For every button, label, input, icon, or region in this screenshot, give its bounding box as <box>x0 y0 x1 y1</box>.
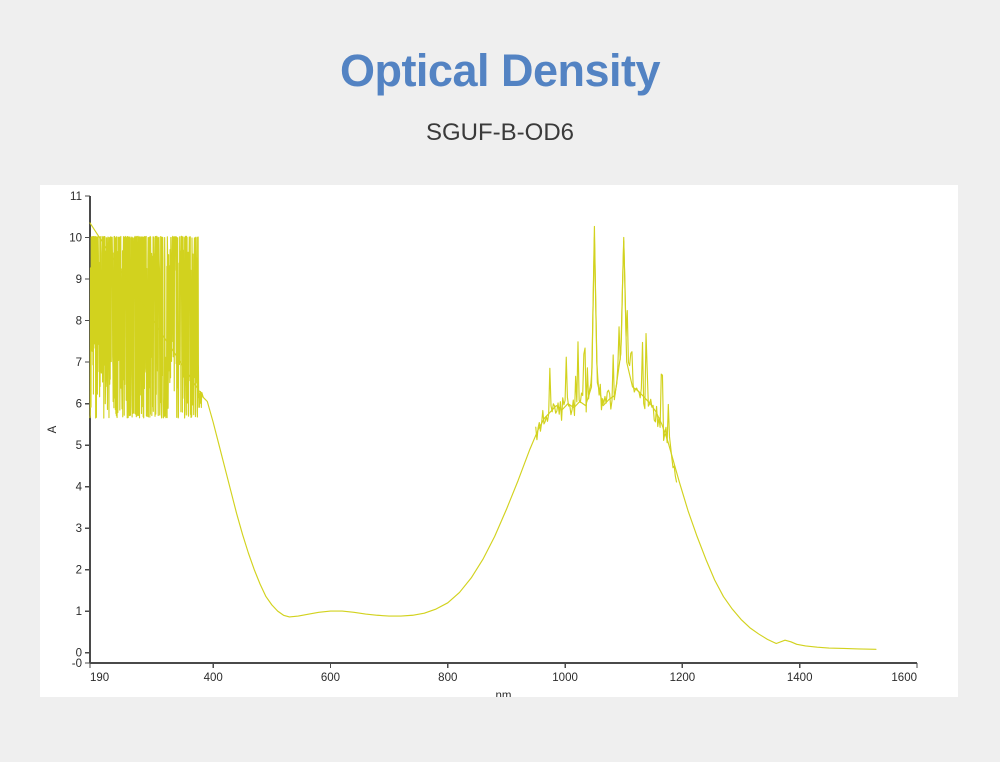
x-tick-label: 1000 <box>552 672 578 684</box>
x-tick-label: 190 <box>90 672 109 684</box>
y-axis-ticks: -001234567891011 <box>69 191 90 670</box>
x-tick-label: 1600 <box>891 672 917 684</box>
series-optical-density <box>90 223 876 649</box>
x-tick-label: 400 <box>204 672 223 684</box>
y-tick-label: 8 <box>76 316 82 328</box>
x-tick-label: 1400 <box>787 672 813 684</box>
y-tick-label: 3 <box>76 523 82 535</box>
x-axis-title: nm <box>496 690 512 697</box>
x-tick-label: 1200 <box>670 672 696 684</box>
y-tick-label: 4 <box>76 482 83 494</box>
y-tick-label: 2 <box>76 565 82 577</box>
page-title: Optical Density <box>0 46 1000 96</box>
series-uv-noise <box>90 236 203 418</box>
series-ir-fine-structure <box>536 227 677 482</box>
y-tick-label: 6 <box>76 399 82 411</box>
page-subtitle: SGUF-B-OD6 <box>0 119 1000 147</box>
y-tick-label: 0 <box>76 648 82 660</box>
y-tick-label: -0 <box>72 658 82 670</box>
x-tick-label: 600 <box>321 672 340 684</box>
y-tick-label: 10 <box>69 233 82 245</box>
chart-series-group <box>90 223 876 649</box>
y-axis-title: A <box>47 425 59 433</box>
y-tick-label: 9 <box>76 274 82 286</box>
spectrum-chart: -001234567891011 19040060080010001200140… <box>40 185 958 697</box>
x-tick-label: 800 <box>438 672 457 684</box>
chart-panel: -001234567891011 19040060080010001200140… <box>40 185 958 697</box>
x-axis-ticks: 1904006008001000120014001600 <box>90 663 917 684</box>
y-tick-label: 1 <box>76 606 82 618</box>
y-tick-label: 11 <box>70 191 82 203</box>
y-tick-label: 7 <box>76 357 82 369</box>
y-tick-label: 5 <box>76 440 82 452</box>
